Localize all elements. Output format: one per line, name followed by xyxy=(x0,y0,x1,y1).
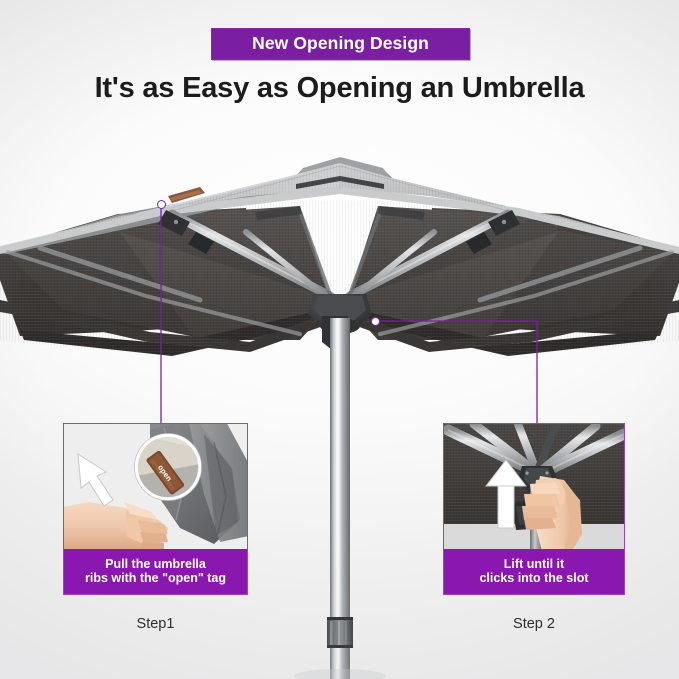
step-1-panel: open Pull the umbrella ribs with the "op… xyxy=(63,423,248,595)
step-2-caption: Lift until it clicks into the slot xyxy=(444,549,624,594)
step-1-label: Step1 xyxy=(63,616,248,632)
product-infographic: New Opening Design It's as Easy as Openi… xyxy=(0,0,679,679)
step-1-illustration: open xyxy=(64,424,247,551)
step-2-illustration xyxy=(444,424,624,551)
open-tag-magnifier: open xyxy=(135,434,202,501)
step-2-photo xyxy=(444,424,624,551)
step-1-photo: open xyxy=(64,424,247,551)
step-2-panel: Lift until it clicks into the slot xyxy=(443,423,625,595)
callout-marker-canopy-rib xyxy=(157,200,166,209)
step-2-caption-line2: clicks into the slot xyxy=(479,571,588,586)
new-opening-design-badge: New Opening Design xyxy=(211,28,470,60)
step-2-caption-line1: Lift until it xyxy=(504,557,564,572)
callout-marker-hub-slot xyxy=(371,317,380,326)
step-2-label: Step 2 xyxy=(443,616,625,632)
page-title: It's as Easy as Opening an Umbrella xyxy=(0,72,679,105)
step-1-caption-line2: ribs with the "open" tag xyxy=(85,571,226,586)
step-1-caption-line1: Pull the umbrella xyxy=(105,557,206,572)
badge-label: New Opening Design xyxy=(252,35,429,53)
step-1-caption: Pull the umbrella ribs with the "open" t… xyxy=(64,549,247,594)
